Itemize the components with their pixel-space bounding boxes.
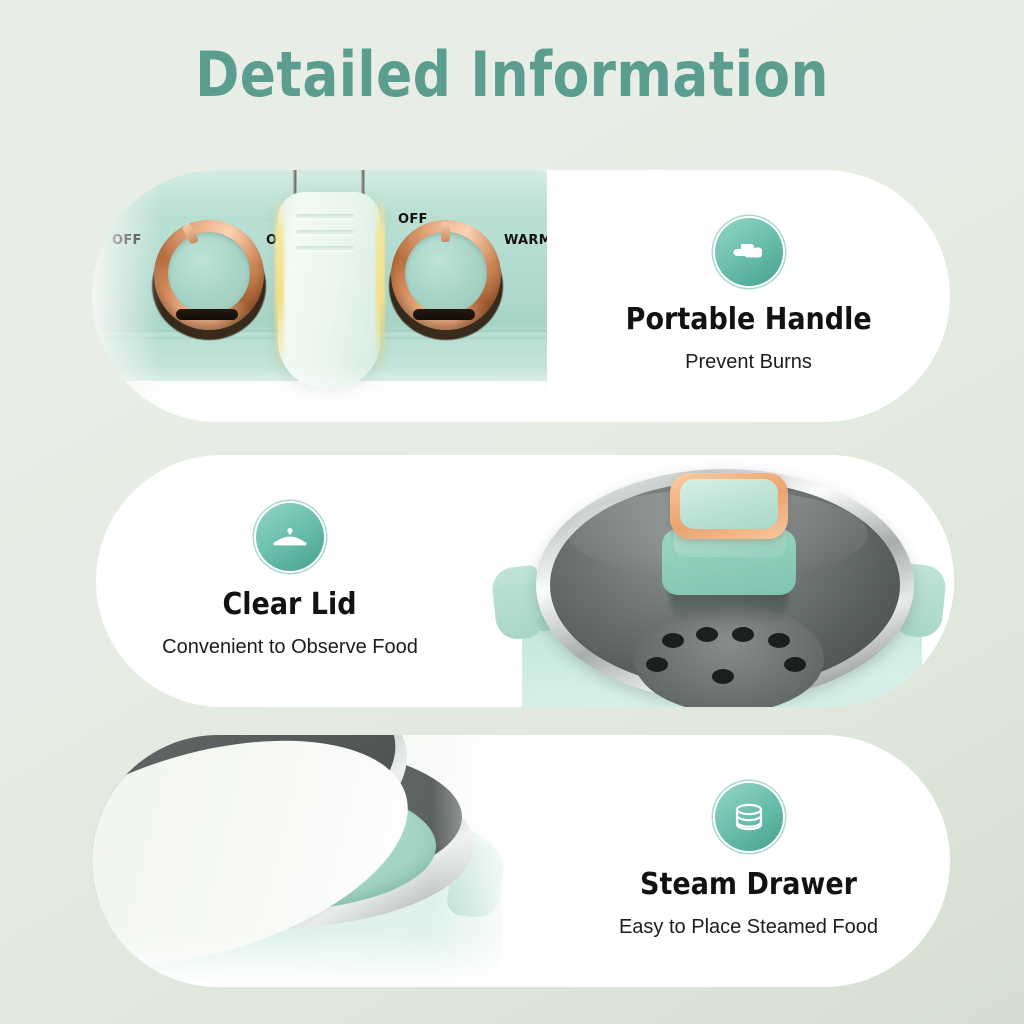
feature-title: Portable Handle bbox=[625, 302, 871, 337]
hand-grip-handle-icon bbox=[715, 218, 783, 286]
lid-top-view-photo bbox=[484, 455, 954, 707]
handle-edge-highlight-right bbox=[376, 194, 385, 384]
knob-face bbox=[168, 232, 250, 314]
feature-card-portable-handle: OFF ON KING OFF WARM MILK bbox=[92, 170, 950, 422]
feature-card-steam-drawer: Steam Drawer Easy to Place Steamed Food bbox=[92, 735, 950, 987]
feature-title: Steam Drawer bbox=[640, 867, 857, 902]
control-knob-left[interactable] bbox=[150, 218, 268, 336]
handle-grip bbox=[278, 192, 380, 388]
tray-hole bbox=[732, 627, 754, 642]
tray-hole bbox=[646, 657, 668, 672]
handle-groove bbox=[296, 230, 354, 235]
knob-indicator-notch bbox=[441, 222, 450, 242]
handle-groove bbox=[296, 246, 354, 251]
feature-subtitle: Prevent Burns bbox=[685, 351, 812, 374]
stacked-steamer-icon bbox=[715, 783, 783, 851]
tray-hole bbox=[784, 657, 806, 672]
carry-handle[interactable] bbox=[270, 170, 388, 392]
knob-label-warm-milk: WARM MILK bbox=[504, 233, 547, 248]
open-pot-steamer-photo bbox=[92, 735, 547, 987]
feature-text-portable-handle: Portable Handle Prevent Burns bbox=[547, 170, 950, 422]
handle-edge-highlight-left bbox=[275, 194, 284, 384]
tray-hole bbox=[662, 633, 684, 648]
feature-subtitle: Convenient to Observe Food bbox=[162, 636, 418, 659]
control-knob-right[interactable] bbox=[387, 218, 505, 336]
knob-face bbox=[405, 232, 487, 314]
photo-left-fade bbox=[92, 170, 162, 422]
pot-lid-icon bbox=[256, 503, 324, 571]
photo-bottom-fade bbox=[92, 931, 547, 987]
feature-text-steam-drawer: Steam Drawer Easy to Place Steamed Food bbox=[547, 735, 950, 987]
feature-title: Clear Lid bbox=[223, 587, 357, 622]
page-title: Detailed Information bbox=[72, 42, 953, 107]
knob-base-gap bbox=[413, 309, 475, 320]
feature-subtitle: Easy to Place Steamed Food bbox=[619, 916, 878, 939]
control-panel-photo: OFF ON KING OFF WARM MILK bbox=[92, 170, 547, 422]
feature-text-clear-lid: Clear Lid Convenient to Observe Food bbox=[96, 455, 484, 707]
handle-groove bbox=[296, 214, 354, 219]
tray-hole bbox=[768, 633, 790, 648]
lid-knob-face bbox=[680, 479, 778, 529]
tray-hole bbox=[712, 669, 734, 684]
feature-card-clear-lid: Clear Lid Convenient to Observe Food bbox=[96, 455, 954, 707]
tray-hole bbox=[696, 627, 718, 642]
knob-base-gap bbox=[176, 309, 238, 320]
